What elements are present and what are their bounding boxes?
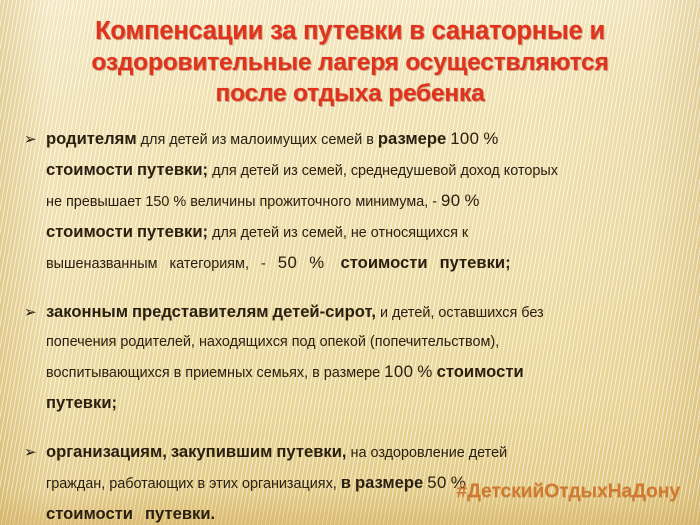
paragraph-line: законным представителям детей-сирот, и д… xyxy=(46,297,682,328)
paragraph-line: вышеназванным категориям, - 50 % стоимос… xyxy=(46,248,682,279)
arrow-bullet-icon: ➢ xyxy=(24,299,37,326)
paragraph-line: стоимости путевки; для детей из семей, с… xyxy=(46,155,682,186)
paragraph-line: путевки; xyxy=(46,388,682,419)
paragraph-line: стоимости путевки; для детей из семей, н… xyxy=(46,217,682,248)
slide-body: ➢ родителям для детей из малоимущих семе… xyxy=(0,124,700,525)
paragraph-line: родителям для детей из малоимущих семей … xyxy=(46,124,682,155)
slide-canvas: Компенсации за путевки в санаторные и оз… xyxy=(0,0,700,525)
bullet-paragraph-parents: ➢ родителям для детей из малоимущих семе… xyxy=(22,124,682,279)
bullet-paragraph-guardians: ➢ законным представителям детей-сирот, и… xyxy=(22,297,682,419)
hashtag-footer: #ДетскийОтдыхНаДону xyxy=(456,480,680,503)
paragraph-line: попечения родителей, находящихся под опе… xyxy=(46,328,682,357)
title-line-3: после отдыха ребенка xyxy=(26,78,674,109)
arrow-bullet-icon: ➢ xyxy=(24,439,37,466)
paragraph-line: не превышает 150 % величины прожиточного… xyxy=(46,186,682,217)
title-line-1: Компенсации за путевки в санаторные и xyxy=(26,16,674,47)
paragraph-line: организациям, закупившим путевки, на озд… xyxy=(46,437,682,468)
arrow-bullet-icon: ➢ xyxy=(24,126,37,153)
paragraph-line: воспитывающихся в приемных семьях, в раз… xyxy=(46,357,682,388)
slide-title: Компенсации за путевки в санаторные и оз… xyxy=(26,16,674,109)
title-line-2: оздоровительные лагеря осуществляются xyxy=(26,47,674,78)
